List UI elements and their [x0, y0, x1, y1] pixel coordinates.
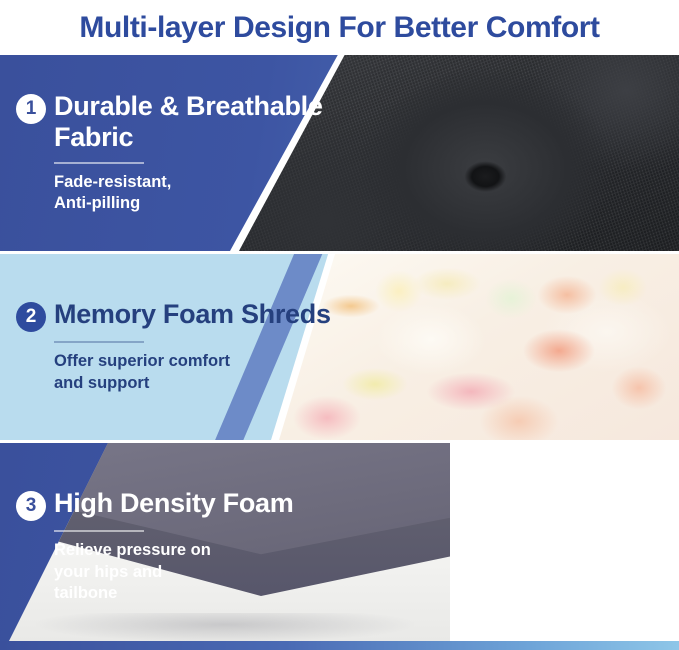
heading-row: 1 Durable & Breathable Fabric	[16, 91, 336, 153]
bottom-accent-band	[0, 641, 679, 650]
page-title: Multi-layer Design For Better Comfort	[79, 11, 599, 45]
panel-heading: High Density Foam	[54, 488, 293, 519]
step-number-badge: 2	[16, 302, 46, 332]
panel-heading: Durable & Breathable Fabric	[54, 91, 336, 153]
panel-heading: Memory Foam Shreds	[54, 299, 331, 330]
heading-divider	[54, 341, 144, 343]
heading-row: 2 Memory Foam Shreds	[16, 299, 336, 332]
step-number-badge: 1	[16, 94, 46, 124]
feature-panel-2: 2 Memory Foam Shreds Offer superior comf…	[0, 254, 679, 440]
heading-row: 3 High Density Foam	[16, 488, 336, 521]
page-title-bar: Multi-layer Design For Better Comfort	[0, 0, 679, 55]
heading-divider	[54, 530, 144, 532]
step-number-badge: 3	[16, 491, 46, 521]
feature-panel-1: 1 Durable & Breathable Fabric Fade-resis…	[0, 55, 679, 251]
panel-content: 1 Durable & Breathable Fabric Fade-resis…	[16, 55, 336, 251]
panel-subtext: Offer superior comfort and support	[54, 351, 336, 395]
feature-panel-3: 3 High Density Foam Relieve pressure on …	[0, 443, 679, 650]
heading-divider	[54, 162, 144, 164]
panel-subtext: Fade-resistant, Anti-pilling	[54, 172, 336, 216]
foam-shreds-photo	[279, 254, 679, 440]
panel-content: 2 Memory Foam Shreds Offer superior comf…	[16, 254, 336, 440]
panel-subtext: Relieve pressure on your hips and tailbo…	[54, 540, 336, 605]
panel-content: 3 High Density Foam Relieve pressure on …	[16, 443, 336, 650]
